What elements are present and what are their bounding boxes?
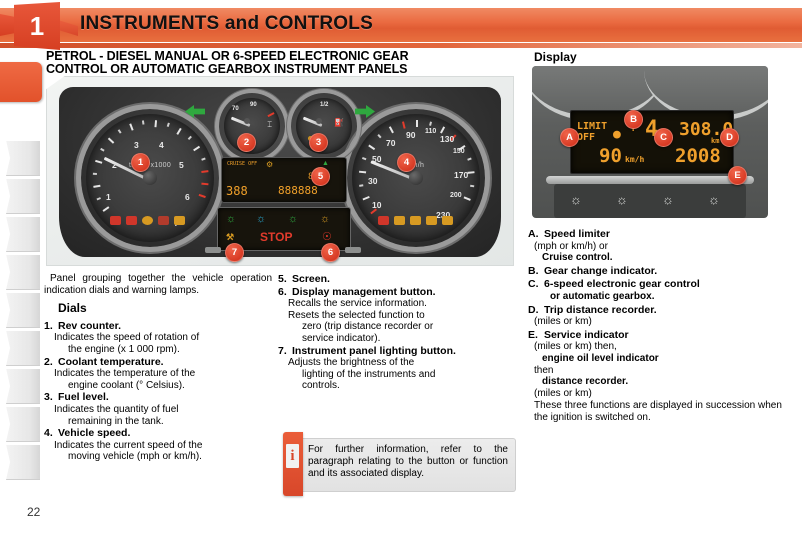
dipped-beam-icon: ☼: [226, 213, 236, 225]
main-beam-icon: ☼: [256, 213, 266, 225]
esp-warning-icon: [410, 216, 421, 225]
list-item: D.Trip distance recorder. (miles or km): [528, 305, 790, 328]
service-icon: ⚒: [226, 232, 234, 243]
door-open-warning-icon: [394, 216, 405, 225]
coolant-tick-70: 70: [232, 106, 239, 112]
chapter-tab-3[interactable]: [6, 178, 40, 214]
item-3-title: Fuel level.: [58, 391, 109, 403]
list-item: 7.Instrument panel lighting button. Adju…: [278, 346, 510, 392]
item-c-title-cont: or automatic gearbox.: [550, 291, 790, 303]
item-5-number: 5.: [278, 274, 292, 286]
callout-4: 4: [397, 153, 416, 172]
item-d-letter: D.: [528, 305, 544, 317]
item-a-title: Speed limiter: [544, 228, 610, 240]
list-item: A.Speed limiter (mph or km/h) or Cruise …: [528, 229, 790, 264]
item-b-title: Gear change indicator.: [544, 265, 657, 277]
engine-warning-icon: [142, 216, 153, 225]
item-7-line3: controls.: [302, 380, 510, 392]
rev-tick-6: 6: [185, 192, 190, 202]
item-4-title: Vehicle speed.: [58, 427, 130, 439]
item-5-head: 5.Screen.: [278, 274, 510, 286]
left-text-column: Panel grouping together the vehicle oper…: [44, 273, 272, 463]
speed-tick-170: 170: [454, 170, 468, 180]
list-item: 5.Screen.: [278, 274, 510, 286]
brake-warning-icon: [126, 216, 137, 225]
item-6-title: Display management button.: [292, 286, 436, 298]
display-callout-d: D: [720, 128, 739, 147]
main-beam-icon: ☼: [616, 192, 628, 207]
item-1-body: Indicates the speed of rotation of the e…: [54, 332, 272, 355]
speedometer-dial: 10 30 50 70 90 110 130 150 170 200 230 k…: [347, 109, 485, 247]
item-6-body: Recalls the service information. Resets …: [288, 298, 510, 344]
item-6-line2: Resets the selected function to: [288, 310, 510, 322]
item-6-line3: zero (trip distance recorder or: [302, 321, 510, 333]
chapter-tab-6[interactable]: [6, 292, 40, 328]
stop-warning-label: STOP: [260, 230, 292, 244]
battery-warning-icon: [174, 216, 185, 225]
item-4-body-line2: moving vehicle (mph or km/h).: [68, 451, 272, 463]
lcd-trip-unit: km: [711, 137, 719, 145]
coolant-tick-90: 90: [250, 102, 257, 108]
instrument-panel-figure: 1 2 3 4 5 6 7 tr/min x1000: [46, 76, 514, 266]
list-item: 1.Rev counter. Indicates the speed of ro…: [44, 321, 272, 356]
item-c-title: 6-speed electronic gear control: [544, 278, 700, 290]
lcd-speed-unit: km/h: [625, 155, 644, 164]
item-4-number: 4.: [44, 428, 58, 440]
chapter-tab-5[interactable]: [6, 254, 40, 290]
item-2-title: Coolant temperature.: [58, 356, 164, 368]
dials-subheading: Dials: [58, 303, 272, 315]
display-callout-e: E: [728, 166, 747, 185]
screen-cruise-label: CRUISE OFF: [227, 161, 257, 167]
item-b-head: B.Gear change indicator.: [528, 266, 790, 278]
item-e-sub: (miles or km) then,: [534, 341, 790, 353]
instrument-cluster: 1 2 3 4 5 6 7 tr/min x1000: [59, 87, 501, 257]
chapter-tab-10[interactable]: [6, 444, 40, 480]
rev-counter-dial: 1 2 3 4 5 6 7 tr/min x1000: [81, 109, 219, 247]
chapter-tab-9[interactable]: [6, 406, 40, 442]
item-2-body-line1: Indicates the temperature of the: [54, 368, 195, 379]
section-title-line2: CONTROL OR AUTOMATIC GEARBOX INSTRUMENT …: [46, 63, 516, 76]
screen-eco-icon: ▲: [322, 160, 329, 167]
abs-warning-icon: [110, 216, 121, 225]
list-item: E.Service indicator (miles or km) then, …: [528, 330, 790, 424]
item-3-body-line2: remaining in the tank.: [68, 416, 272, 428]
section-title: PETROL - DIESEL MANUAL OR 6-SPEED ELECTR…: [46, 50, 516, 76]
lcd-off-label: OFF: [577, 132, 595, 143]
chapter-tab-2[interactable]: [6, 140, 40, 176]
item-7-head: 7.Instrument panel lighting button.: [278, 346, 510, 358]
list-item: 3.Fuel level. Indicates the quantity of …: [44, 392, 272, 427]
lcd-limit-label: LIMIT: [577, 121, 607, 132]
item-2-body-line2: engine coolant (° Celsius).: [68, 380, 272, 392]
front-fog-icon: ☼: [288, 213, 298, 225]
item-7-line2: lighting of the instruments and: [302, 369, 510, 381]
item-6-number: 6.: [278, 287, 292, 299]
item-e-sub-bold: engine oil level indicator: [542, 353, 790, 365]
header-underline: [0, 43, 802, 48]
speed-limiter-icon: ●: [613, 127, 621, 142]
page-number: 22: [27, 505, 40, 519]
chapter-tab-1[interactable]: [0, 62, 42, 102]
instrument-lighting-button[interactable]: [205, 247, 221, 253]
display-lip: [546, 176, 754, 184]
display-callout-c: C: [654, 128, 673, 147]
rear-fog-icon: ☼: [320, 213, 330, 225]
display-bottom-panel: ☼ ☼ ☼ ☼: [554, 184, 746, 218]
rev-tick-4: 4: [159, 140, 164, 150]
item-e-letter: E.: [528, 330, 544, 342]
rev-counter-warning-lamps: [110, 216, 185, 225]
item-e-title: Service indicator: [544, 329, 629, 341]
intro-paragraph: Panel grouping together the vehicle oper…: [44, 273, 272, 296]
info-callout-text: For further information, refer to the pa…: [308, 444, 508, 480]
item-7-line1: Adjusts the brightness of the: [288, 357, 510, 369]
display-heading: Display: [534, 50, 577, 64]
rev-counter-unit-label: tr/min x1000: [86, 162, 214, 169]
item-a-head: A.Speed limiter: [528, 229, 790, 241]
item-a-sub-bold: Cruise control.: [542, 252, 790, 264]
speed-tick-30: 30: [368, 176, 377, 186]
airbag-warning-icon: [158, 216, 169, 225]
callout-7: 7: [225, 243, 244, 262]
item-1-body-line1: Indicates the speed of rotation of: [54, 332, 199, 343]
item-2-number: 2.: [44, 357, 58, 369]
item-6-line4: service indicator).: [302, 333, 510, 345]
item-4-head: 4.Vehicle speed.: [44, 428, 272, 440]
list-item: 6.Display management button. Recalls the…: [278, 287, 510, 345]
list-item: B.Gear change indicator.: [528, 266, 790, 278]
item-7-body: Adjusts the brightness of the lighting o…: [288, 357, 510, 392]
thermometer-icon: ⌶: [267, 120, 272, 130]
item-1-title: Rev counter.: [58, 320, 121, 332]
info-icon: i: [286, 444, 299, 468]
callout-2: 2: [237, 133, 256, 152]
item-2-head: 2.Coolant temperature.: [44, 357, 272, 369]
item-d-title: Trip distance recorder.: [544, 304, 657, 316]
item-3-head: 3.Fuel level.: [44, 392, 272, 404]
deflation-warning-icon: [442, 216, 453, 225]
speed-tick-90: 90: [406, 130, 415, 140]
speed-tick-110: 110: [425, 128, 436, 135]
right-column-footnote: These three functions are displayed in s…: [534, 400, 790, 423]
item-4-body: Indicates the current speed of the movin…: [54, 440, 272, 463]
display-figure: LIMIT OFF ● ↑ 4 308.0 km 90 km/h 2008 ☼ …: [532, 66, 768, 218]
item-e-head: E.Service indicator: [528, 330, 790, 342]
display-management-button[interactable]: [345, 247, 361, 253]
chapter-number: 1: [14, 2, 60, 50]
item-3-body-line1: Indicates the quantity of fuel: [54, 404, 179, 415]
chapter-tab-rail: [0, 50, 40, 520]
display-lcd: LIMIT OFF ● ↑ 4 308.0 km 90 km/h 2008: [570, 110, 734, 174]
item-7-number: 7.: [278, 346, 292, 358]
callout-5: 5: [311, 167, 330, 186]
dipped-beam-icon: ☼: [570, 192, 582, 207]
item-e-sub-bold2: distance recorder.: [542, 376, 790, 388]
item-3-body: Indicates the quantity of fuel remaining…: [54, 404, 272, 427]
item-7-title: Instrument panel lighting button.: [292, 345, 456, 357]
front-fog-icon: ☼: [662, 192, 674, 207]
left-turn-indicator-icon: [185, 105, 205, 118]
item-e-then: then: [534, 365, 790, 377]
callout-6: 6: [321, 243, 340, 262]
screen-auto-icon: ⚙: [266, 160, 273, 169]
item-3-number: 3.: [44, 392, 58, 404]
item-1-head: 1.Rev counter.: [44, 321, 272, 333]
fuel-pump-icon: ⛽: [334, 118, 344, 127]
speed-tick-10: 10: [372, 200, 381, 210]
callout-1: 1: [131, 153, 150, 172]
item-1-number: 1.: [44, 321, 58, 333]
rev-tick-3: 3: [134, 140, 139, 150]
item-b-letter: B.: [528, 266, 544, 278]
info-callout-text-content: For further information, refer to the pa…: [308, 444, 508, 479]
item-d-sub: (miles or km): [534, 316, 790, 328]
speed-tick-70: 70: [386, 138, 395, 148]
lcd-odometer-value: 2008: [675, 145, 721, 167]
chapter-tab-4[interactable]: [6, 216, 40, 252]
glow-plug-warning-icon: [426, 216, 437, 225]
display-callout-b: B: [624, 110, 643, 129]
speedometer-hub: [409, 171, 423, 185]
speed-tick-200: 200: [450, 192, 462, 199]
speed-tick-130: 130: [440, 134, 454, 144]
item-a-sub: (mph or km/h) or: [534, 241, 790, 253]
item-c-head: C.6-speed electronic gear control: [528, 279, 790, 291]
middle-text-column: 5.Screen. 6.Display management button. R…: [278, 273, 510, 392]
item-4-body-line1: Indicates the current speed of the: [54, 440, 202, 451]
item-1-body-line2: the engine (x 1 000 rpm).: [68, 344, 272, 356]
rev-counter-hub: [143, 171, 157, 185]
screen-digits-left: 388: [226, 184, 248, 198]
item-6-head: 6.Display management button.: [278, 287, 510, 299]
item-d-head: D.Trip distance recorder.: [528, 305, 790, 317]
item-2-body: Indicates the temperature of the engine …: [54, 368, 272, 391]
battery-icon: ☉: [322, 230, 332, 243]
list-item: 2.Coolant temperature. Indicates the tem…: [44, 357, 272, 392]
list-item: 4.Vehicle speed. Indicates the current s…: [44, 428, 272, 463]
chapter-tab-8[interactable]: [6, 368, 40, 404]
screen-digits-bottom: 888888: [278, 184, 318, 197]
rev-tick-1: 1: [106, 192, 111, 202]
speed-tick-150: 150: [453, 148, 465, 155]
item-c-letter: C.: [528, 279, 544, 291]
page-title: INSTRUMENTS and CONTROLS: [80, 13, 373, 35]
lcd-speed-value: 90: [599, 145, 622, 167]
fuel-tick-half: 1/2: [320, 102, 328, 108]
speedometer-warning-lamps: [378, 216, 453, 225]
display-callout-a: A: [560, 128, 579, 147]
chapter-tab-7[interactable]: [6, 330, 40, 366]
right-turn-indicator-icon: [355, 105, 375, 118]
rear-fog-icon: ☼: [708, 192, 720, 207]
seatbelt-warning-icon: [378, 216, 389, 225]
item-6-line1: Recalls the service information.: [288, 298, 510, 310]
callout-3: 3: [309, 133, 328, 152]
item-a-letter: A.: [528, 229, 544, 241]
list-item: C.6-speed electronic gear control or aut…: [528, 279, 790, 302]
right-text-column: A.Speed limiter (mph or km/h) or Cruise …: [528, 227, 790, 424]
item-5-title: Screen.: [292, 273, 330, 285]
item-e-sub-plain2: (miles or km): [534, 388, 790, 400]
